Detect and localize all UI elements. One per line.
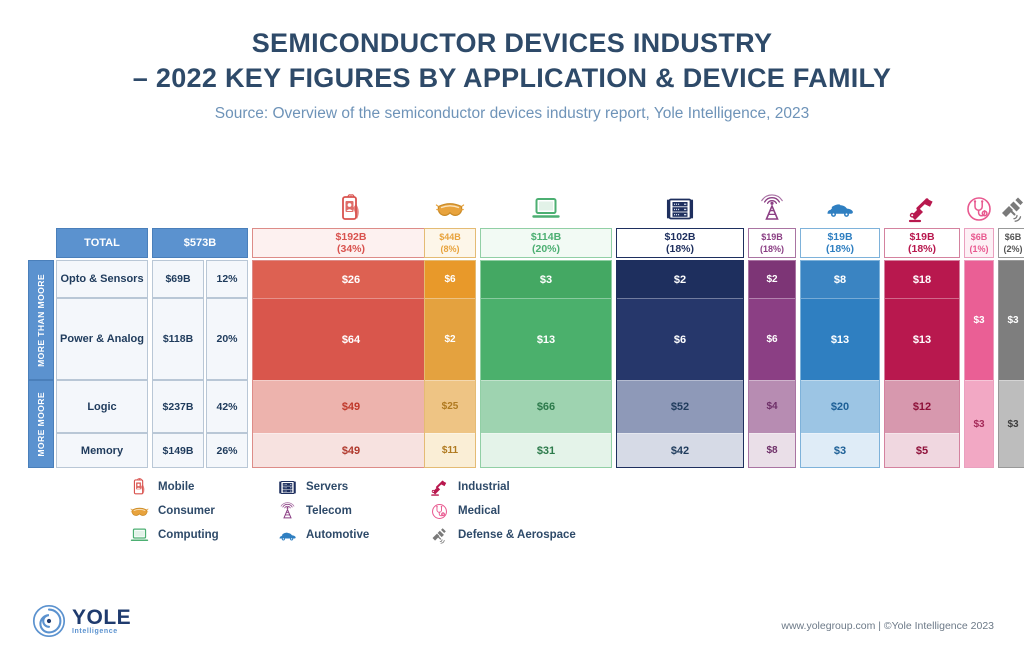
legend-label-servers: Servers — [306, 481, 348, 493]
legend-item-computing[interactable]: Computing — [128, 524, 219, 546]
value-cell-2: $237B — [152, 380, 204, 433]
robot-arm-icon — [430, 478, 449, 497]
column-total-consumer: $44B — [439, 231, 461, 243]
application-icon-row — [28, 176, 996, 226]
legend-label-mobile: Mobile — [158, 481, 194, 493]
column-share-defense: (2%) — [1003, 243, 1022, 255]
antenna-icon — [278, 502, 297, 521]
column-share-telecom: (18%) — [760, 243, 784, 255]
value-cell-3: $149B — [152, 433, 204, 468]
mosaic-cell-defense-1[interactable]: $3 — [998, 380, 1024, 468]
mosaic-cell-industrial-1[interactable]: $13 — [884, 298, 960, 380]
column-header-row: TOTAL $573B $192B(34%)$44B(8%)$114B(20%)… — [28, 228, 996, 258]
icon-header-industrial — [884, 178, 960, 224]
row-group-text-0: MORE THAN MOORE — [36, 274, 47, 367]
vr-goggles-icon — [435, 194, 465, 224]
legend-item-mobile[interactable]: Mobile — [128, 476, 219, 498]
server-icon — [276, 478, 298, 496]
percent-cell-1: 20% — [206, 298, 248, 380]
mosaic-cell-servers-2[interactable]: $52 — [616, 380, 744, 433]
stethoscope-icon — [430, 502, 449, 521]
legend-label-computing: Computing — [158, 529, 219, 541]
column-header-servers[interactable]: $102B(18%) — [616, 228, 744, 258]
laptop-icon — [130, 526, 149, 545]
column-header-automotive[interactable]: $19B(18%) — [800, 228, 880, 258]
icon-header-automotive — [800, 178, 880, 224]
antenna-icon — [276, 502, 298, 520]
legend-label-defense: Defense & Aerospace — [458, 529, 576, 541]
column-header-industrial[interactable]: $19B(18%) — [884, 228, 960, 258]
page-subtitle: Source: Overview of the semiconductor de… — [0, 105, 1024, 123]
page-title-line-1: SEMICONDUCTOR DEVICES INDUSTRY — [0, 26, 1024, 61]
icon-header-computing — [480, 178, 612, 224]
mobile-icon — [128, 478, 150, 496]
column-total-telecom: $19B — [761, 231, 783, 243]
icon-header-medical — [964, 178, 994, 224]
car-icon — [278, 526, 297, 545]
vr-goggles-icon — [130, 502, 149, 521]
yole-logo: YOLE Intelligence — [32, 604, 131, 638]
family-cell-3: Memory — [56, 433, 148, 468]
column-header-consumer[interactable]: $44B(8%) — [424, 228, 476, 258]
legend-item-servers[interactable]: Servers — [276, 476, 369, 498]
column-share-servers: (18%) — [666, 243, 694, 255]
column-total-industrial: $19B — [909, 231, 934, 243]
logo-name: YOLE — [72, 608, 131, 628]
total-value-text: $573B — [184, 237, 216, 249]
vr-goggles-icon — [128, 502, 150, 520]
header-total-value: $573B — [152, 228, 248, 258]
satellite-icon — [430, 526, 449, 545]
mosaic-cell-consumer-3[interactable]: $11 — [424, 433, 476, 468]
mosaic-matrix: TOTAL $573B $192B(34%)$44B(8%)$114B(20%)… — [28, 176, 996, 468]
mosaic-cell-industrial-3[interactable]: $5 — [884, 433, 960, 468]
laptop-icon — [128, 526, 150, 544]
legend-item-telecom[interactable]: Telecom — [276, 500, 369, 522]
mosaic-cell-telecom-0[interactable]: $2 — [748, 260, 796, 298]
icon-header-telecom — [748, 178, 796, 224]
family-cell-1: Power & Analog — [56, 298, 148, 380]
mosaic-cell-industrial-0[interactable]: $18 — [884, 260, 960, 298]
family-cell-0: Opto & Sensors — [56, 260, 148, 298]
value-cell-1: $118B — [152, 298, 204, 380]
mobile-icon — [130, 478, 149, 497]
legend-item-industrial[interactable]: Industrial — [428, 476, 576, 498]
column-total-defense: $6B — [1005, 231, 1022, 243]
column-header-computing[interactable]: $114B(20%) — [480, 228, 612, 258]
mosaic-cell-computing-2[interactable]: $66 — [480, 380, 612, 433]
legend-label-consumer: Consumer — [158, 505, 215, 517]
mosaic-cell-automotive-1[interactable]: $13 — [800, 298, 880, 380]
server-icon — [278, 478, 297, 497]
column-share-medical: (1%) — [969, 243, 988, 255]
robot-arm-icon — [428, 478, 450, 496]
column-total-automotive: $19B — [827, 231, 852, 243]
legend-label-medical: Medical — [458, 505, 500, 517]
column-share-computing: (20%) — [532, 243, 560, 255]
icon-header-servers — [616, 178, 744, 224]
title-block: SEMICONDUCTOR DEVICES INDUSTRY – 2022 KE… — [0, 0, 1024, 123]
column-total-servers: $102B — [665, 231, 696, 243]
column-header-mobile[interactable]: $192B(34%) — [252, 228, 450, 258]
family-cell-2: Logic — [56, 380, 148, 433]
satellite-icon — [428, 526, 450, 544]
mosaic-cell-telecom-2[interactable]: $4 — [748, 380, 796, 433]
stethoscope-icon — [428, 502, 450, 520]
legend-column-1: Servers Telecom Automotive — [276, 476, 369, 548]
mosaic-cell-defense-0[interactable]: $3 — [998, 260, 1024, 380]
column-header-telecom[interactable]: $19B(18%) — [748, 228, 796, 258]
icon-header-defense — [998, 178, 1024, 224]
legend-column-2: Industrial Medical Defense & Aerospace — [428, 476, 576, 548]
car-icon — [276, 526, 298, 544]
header-total-label: TOTAL — [56, 228, 148, 258]
row-group-text-1: MORE MOORE — [36, 392, 47, 457]
column-share-consumer: (8%) — [440, 243, 459, 255]
mosaic-cell-industrial-2[interactable]: $12 — [884, 380, 960, 433]
mosaic-cell-servers-3[interactable]: $42 — [616, 433, 744, 468]
mosaic-cell-consumer-2[interactable]: $25 — [424, 380, 476, 433]
legend-label-industrial: Industrial — [458, 481, 510, 493]
percent-cell-0: 12% — [206, 260, 248, 298]
column-header-medical[interactable]: $6B(1%) — [964, 228, 994, 258]
legend-item-consumer[interactable]: Consumer — [128, 500, 219, 522]
footer-credit: www.yolegroup.com | ©Yole Intelligence 2… — [781, 620, 994, 632]
mosaic-cell-consumer-1[interactable]: $2 — [424, 298, 476, 380]
robot-arm-icon — [907, 194, 937, 224]
antenna-icon — [757, 194, 787, 224]
mosaic-cell-telecom-3[interactable]: $8 — [748, 433, 796, 468]
percent-cell-2: 42% — [206, 380, 248, 433]
icon-header-mobile — [252, 178, 450, 224]
satellite-icon — [998, 194, 1024, 224]
yole-spiral-icon — [32, 604, 66, 638]
mosaic-cell-servers-0[interactable]: $2 — [616, 260, 744, 298]
column-total-mobile: $192B — [336, 231, 367, 243]
legend-label-automotive: Automotive — [306, 529, 369, 541]
legend-item-defense[interactable]: Defense & Aerospace — [428, 524, 576, 546]
mosaic-cell-mobile-3[interactable]: $49 — [252, 433, 450, 468]
column-total-medical: $6B — [971, 231, 988, 243]
value-cell-0: $69B — [152, 260, 204, 298]
total-header-text: TOTAL — [84, 237, 120, 249]
mosaic-cell-automotive-3[interactable]: $3 — [800, 433, 880, 468]
mosaic-cell-computing-3[interactable]: $31 — [480, 433, 612, 468]
column-share-automotive: (18%) — [826, 243, 854, 255]
laptop-icon — [531, 194, 561, 224]
icon-header-consumer — [424, 178, 476, 224]
mosaic-cell-medical-1[interactable]: $3 — [964, 380, 994, 468]
mosaic-cell-computing-0[interactable]: $3 — [480, 260, 612, 298]
mosaic-cell-automotive-2[interactable]: $20 — [800, 380, 880, 433]
mobile-icon — [336, 194, 366, 224]
legend-column-0: Mobile Consumer Computing — [128, 476, 219, 548]
mosaic-cell-mobile-0[interactable]: $26 — [252, 260, 450, 298]
legend-item-medical[interactable]: Medical — [428, 500, 576, 522]
column-header-defense[interactable]: $6B(2%) — [998, 228, 1024, 258]
legend-item-automotive[interactable]: Automotive — [276, 524, 369, 546]
mosaic-cell-medical-0[interactable]: $3 — [964, 260, 994, 380]
mosaic-cell-automotive-0[interactable]: $8 — [800, 260, 880, 298]
row-group-label-0: MORE THAN MOORE — [28, 260, 54, 380]
mosaic-cell-servers-1[interactable]: $6 — [616, 298, 744, 380]
page-title-line-2: – 2022 KEY FIGURES BY APPLICATION & DEVI… — [0, 61, 1024, 96]
mosaic-cell-mobile-2[interactable]: $49 — [252, 380, 450, 433]
matrix-body: MORE THAN MOOREMORE MOOREOpto & Sensors$… — [28, 260, 996, 468]
mosaic-cell-consumer-0[interactable]: $6 — [424, 260, 476, 298]
column-total-computing: $114B — [531, 231, 561, 243]
column-share-mobile: (34%) — [337, 243, 365, 255]
server-icon — [665, 194, 695, 224]
column-share-industrial: (18%) — [908, 243, 936, 255]
stethoscope-icon — [964, 194, 994, 224]
mosaic-cell-mobile-1[interactable]: $64 — [252, 298, 450, 380]
footer: YOLE Intelligence www.yolegroup.com | ©Y… — [0, 602, 1024, 648]
row-group-label-1: MORE MOORE — [28, 380, 54, 468]
legend-label-telecom: Telecom — [306, 505, 352, 517]
car-icon — [825, 194, 855, 224]
mosaic-cell-computing-1[interactable]: $13 — [480, 298, 612, 380]
logo-subtitle: Intelligence — [72, 628, 131, 635]
percent-cell-3: 26% — [206, 433, 248, 468]
mosaic-cell-telecom-1[interactable]: $6 — [748, 298, 796, 380]
